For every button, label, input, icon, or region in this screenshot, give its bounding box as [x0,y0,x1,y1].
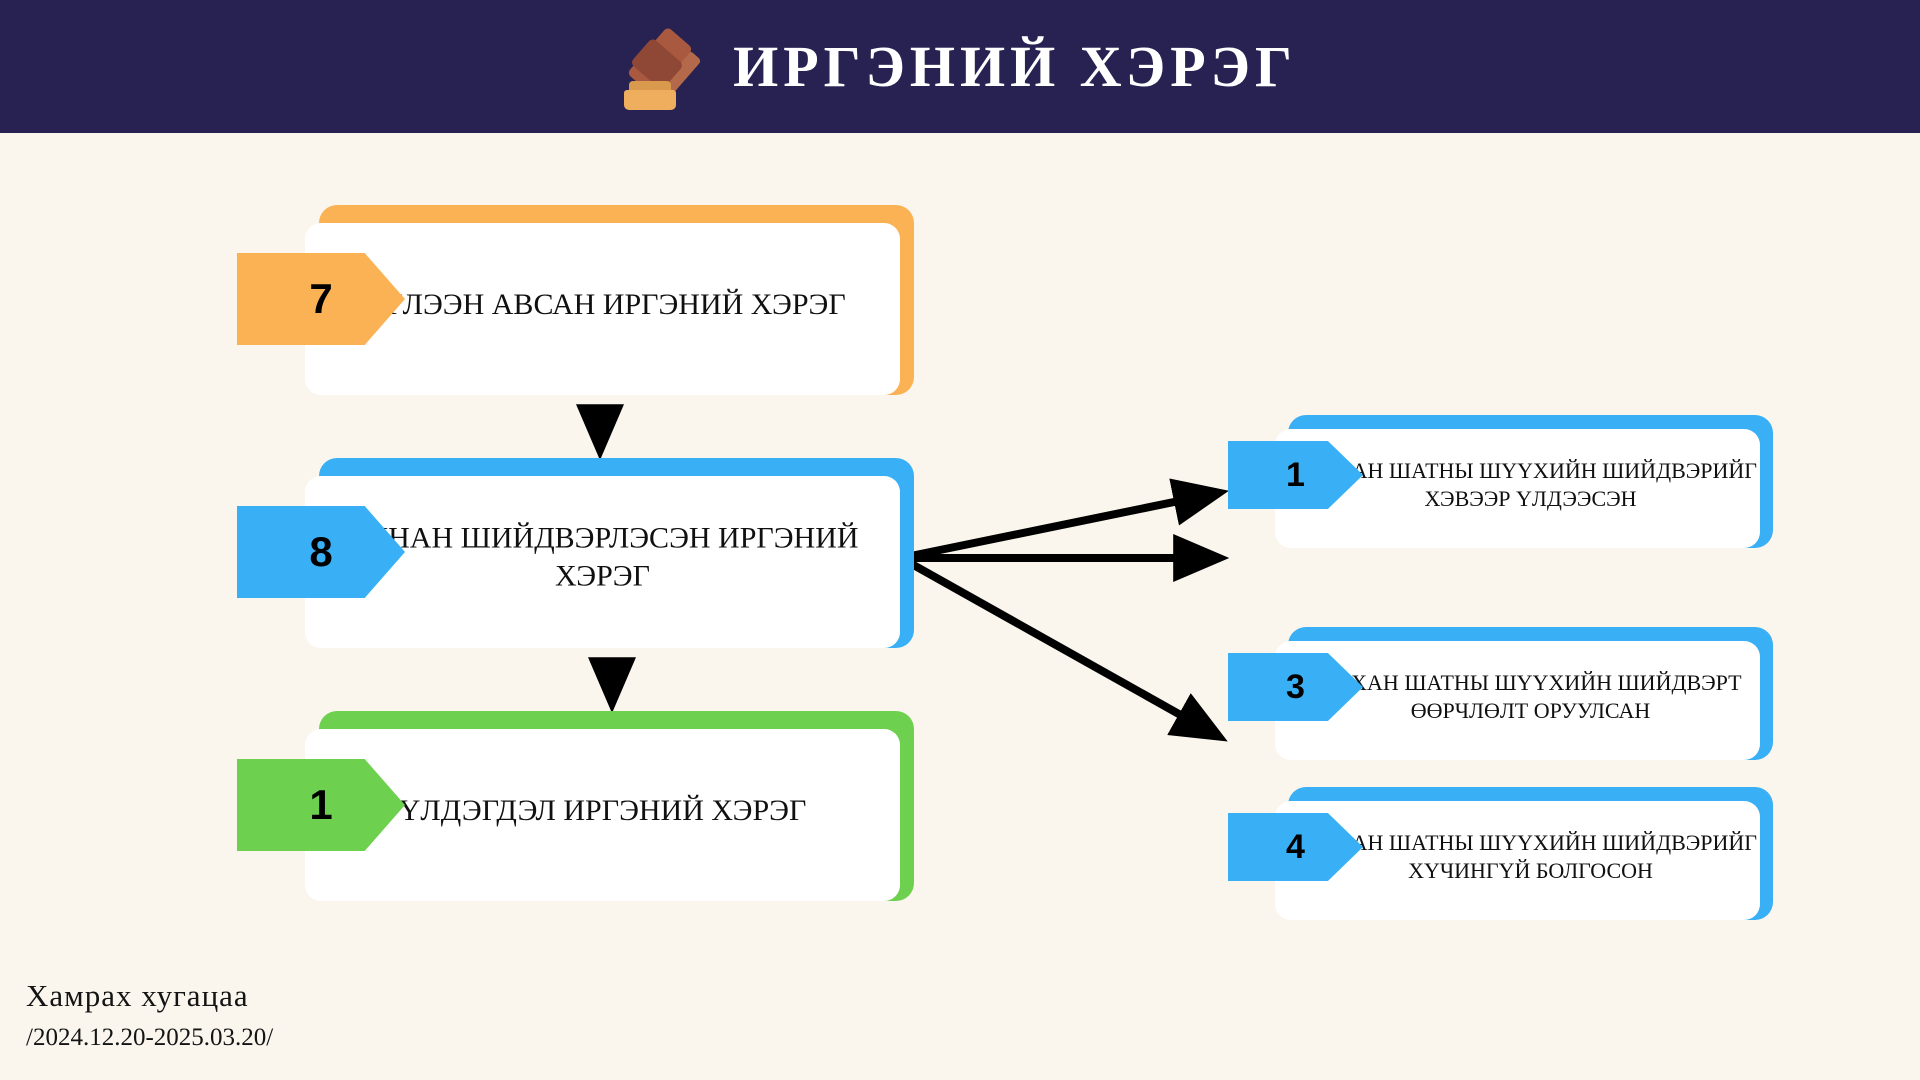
node-decision-upheld[interactable]: АНХАН ШАТНЫ ШҮҮХИЙН ШИЙДВЭРИЙГ ХЭВЭЭР ҮЛ… [1228,415,1768,555]
coverage-period-label: Хамрах хугацаа [26,978,586,1014]
node-label: АНХАН ШАТНЫ ШҮҮХИЙН ШИЙДВЭРТ ӨӨРЧЛӨЛТ ОР… [1288,669,1773,725]
gavel-icon [623,28,715,110]
footer: Хамрах хугацаа /2024.12.20-2025.03.20/ [26,978,586,1052]
page-header: ИРГЭНИЙ ХЭРЭГ [0,0,1920,133]
node-decision-overturned[interactable]: АНХАН ШАТНЫ ШҮҮХИЙН ШИЙДВЭРИЙГ ХҮЧИНГҮЙ … [1228,787,1768,927]
arrow-to-upheld [901,493,1218,558]
node-resolved-civil-cases[interactable]: ХЯНАН ШИЙДВЭРЛЭСЭН ИРГЭНИЙ ХЭРЭГ 8 [237,458,917,658]
node-remaining-civil-cases[interactable]: ҮЛДЭГДЭЛ ИРГЭНИЙ ХЭРЭГ 1 [237,711,917,911]
node-waiting-civil-cases[interactable]: ХҮЛЭЭН АВСАН ИРГЭНИЙ ХЭРЭГ 7 [237,205,917,405]
arrow-to-overturned [901,558,1218,736]
page-title: ИРГЭНИЙ ХЭРЭГ [733,38,1297,96]
node-label: АНХАН ШАТНЫ ШҮҮХИЙН ШИЙДВЭРИЙГ ХҮЧИНГҮЙ … [1288,829,1773,885]
coverage-period-value: /2024.12.20-2025.03.20/ [26,1024,586,1052]
flow-diagram: ХҮЛЭЭН АВСАН ИРГЭНИЙ ХЭРЭГ 7 ХЯНАН ШИЙДВ… [0,133,1920,1080]
node-decision-modified[interactable]: АНХАН ШАТНЫ ШҮҮХИЙН ШИЙДВЭРТ ӨӨРЧЛӨЛТ ОР… [1228,627,1768,767]
node-label: АНХАН ШАТНЫ ШҮҮХИЙН ШИЙДВЭРИЙГ ХЭВЭЭР ҮЛ… [1288,457,1773,513]
